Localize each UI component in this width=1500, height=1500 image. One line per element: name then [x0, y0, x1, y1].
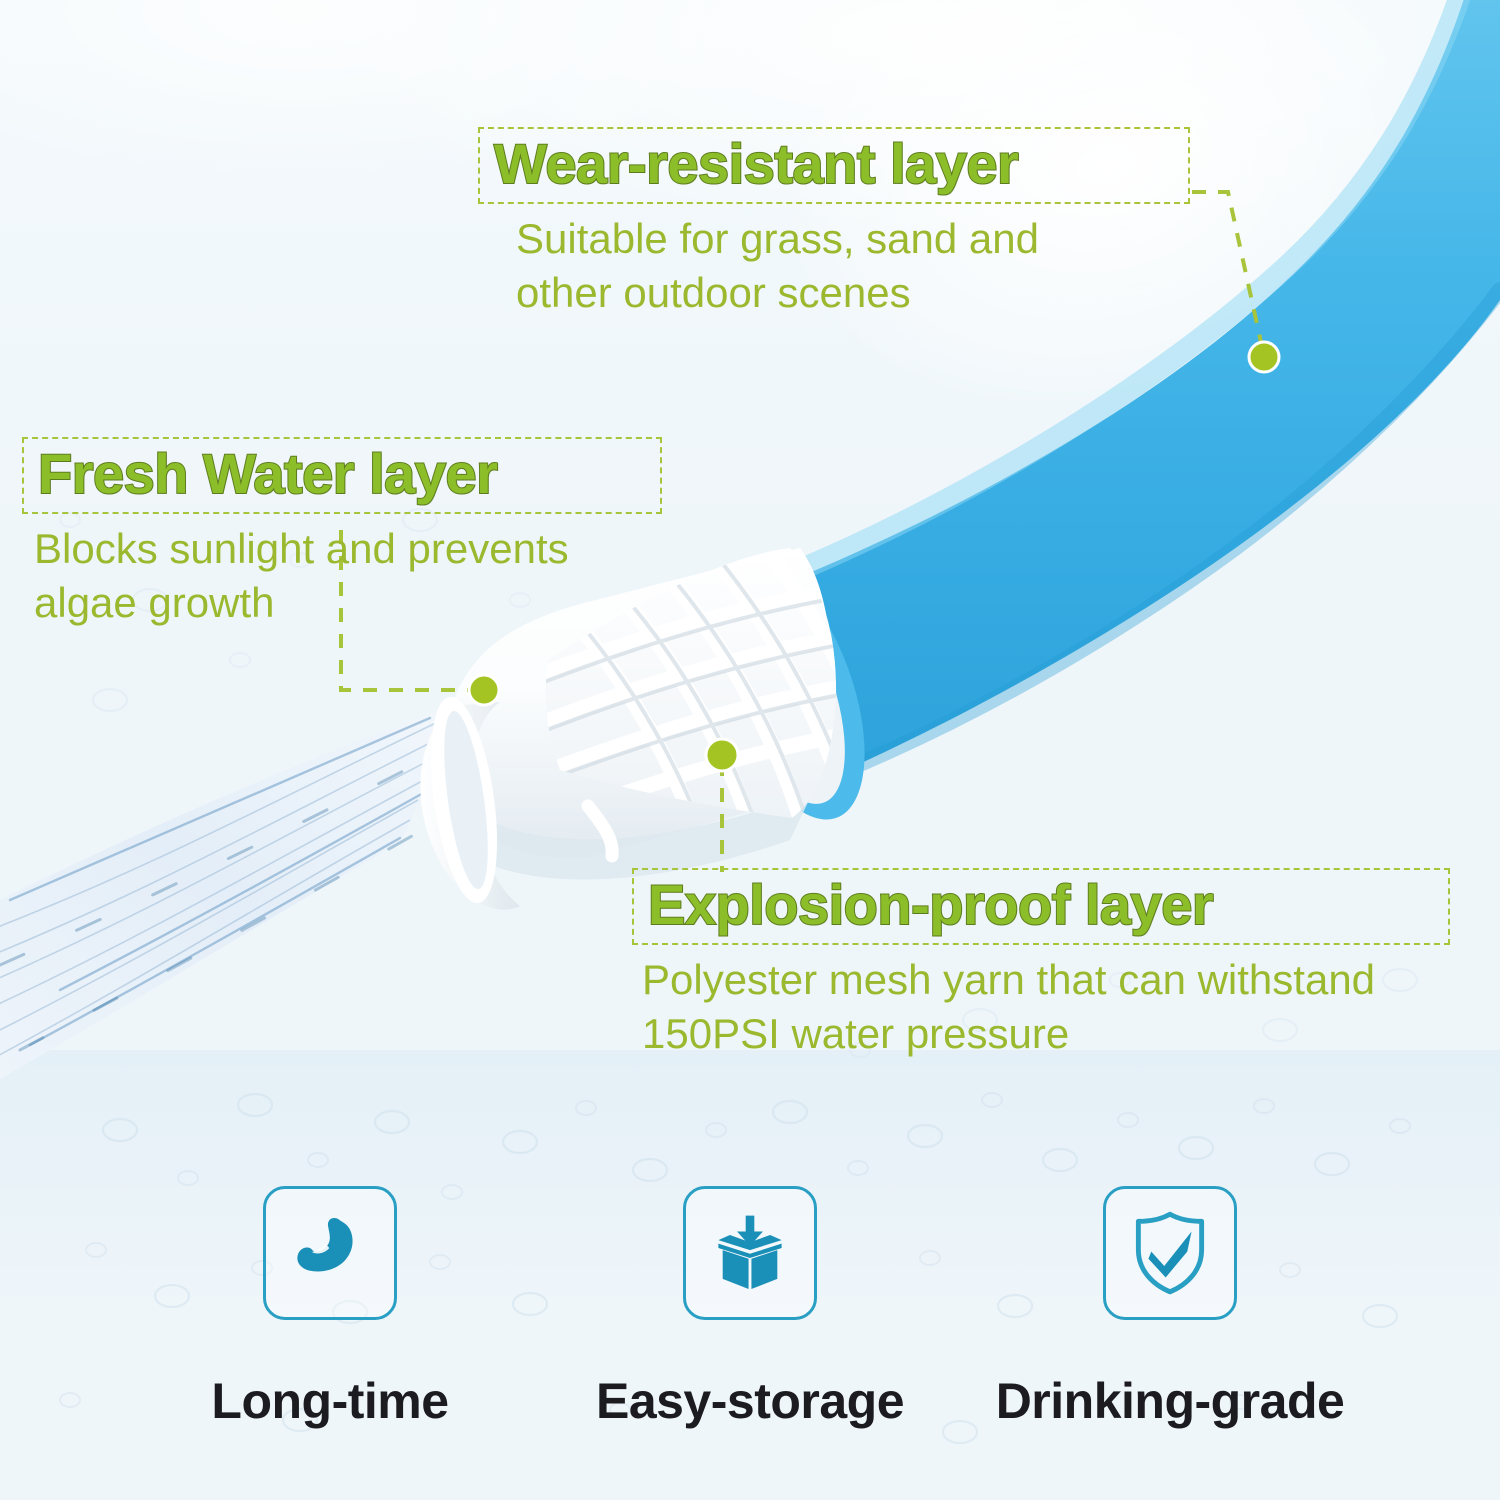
callout-subtitle-wear-resistant: Suitable for grass, sand and other outdo… — [478, 212, 1190, 320]
feature-icon-box-easy-storage — [683, 1186, 817, 1320]
feature-badges-row: Long-time Easy-storage — [0, 1186, 1500, 1430]
callout-fresh-water: Fresh Water layer Blocks sunlight and pr… — [22, 437, 662, 630]
callout-subtitle-fresh-water: Blocks sunlight and prevents algae growt… — [22, 522, 662, 630]
feature-label-long-time: Long-time — [211, 1372, 448, 1430]
infographic-canvas: Wear-resistant layer Suitable for grass,… — [0, 0, 1500, 1500]
feature-long-time: Long-time — [120, 1186, 540, 1430]
water-stream — [0, 700, 470, 1085]
callout-heading-box-explosion-proof: Explosion-proof layer — [632, 868, 1450, 945]
open-box-arrow-icon — [704, 1207, 796, 1299]
hose-outer-blue-layer — [742, 0, 1500, 790]
feature-icon-box-long-time — [263, 1186, 397, 1320]
callout-heading-fresh-water: Fresh Water layer — [38, 445, 646, 502]
callout-heading-wear-resistant: Wear-resistant layer — [494, 135, 1174, 192]
feature-icon-box-drinking-grade — [1103, 1186, 1237, 1320]
feature-label-easy-storage: Easy-storage — [596, 1372, 904, 1430]
callout-heading-box-wear-resistant: Wear-resistant layer — [478, 127, 1190, 204]
callout-subtitle-explosion-proof: Polyester mesh yarn that can withstand 1… — [632, 953, 1450, 1061]
feature-drinking-grade: Drinking-grade — [960, 1186, 1380, 1430]
shield-check-icon — [1124, 1207, 1216, 1299]
callout-explosion-proof: Explosion-proof layer Polyester mesh yar… — [632, 868, 1450, 1061]
flexed-bicep-icon — [284, 1207, 376, 1299]
callout-heading-explosion-proof: Explosion-proof layer — [648, 876, 1434, 933]
callout-heading-box-fresh-water: Fresh Water layer — [22, 437, 662, 514]
callout-wear-resistant: Wear-resistant layer Suitable for grass,… — [478, 127, 1190, 320]
feature-easy-storage: Easy-storage — [540, 1186, 960, 1430]
feature-label-drinking-grade: Drinking-grade — [996, 1372, 1345, 1430]
